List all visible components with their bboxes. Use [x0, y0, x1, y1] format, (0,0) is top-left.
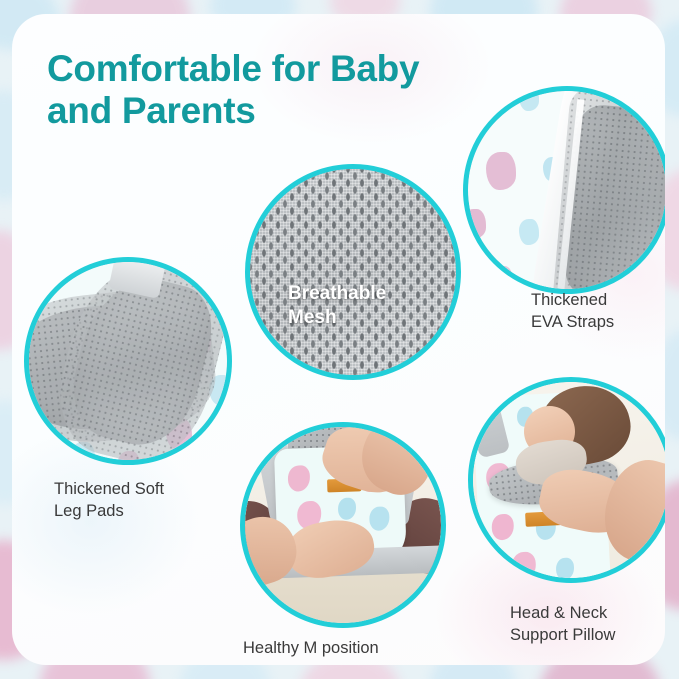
- caption-eva-straps: Thickened EVA Straps: [531, 290, 614, 334]
- leg-pads-photo: [29, 262, 227, 460]
- mesh-texture: [250, 169, 456, 375]
- feature-circle-m-position[interactable]: [240, 422, 446, 628]
- feature-circle-leg-pads[interactable]: [24, 257, 232, 465]
- caption-head-neck-pillow: Head & Neck Support Pillow: [510, 603, 615, 647]
- page-title: Comfortable for Baby and Parents: [47, 48, 419, 132]
- caption-leg-pads: Thickened Soft Leg Pads: [54, 479, 164, 523]
- caption-m-position: Healthy M position: [243, 638, 379, 660]
- breathable-mesh-overlay-label: Breathable Mesh: [288, 282, 386, 331]
- head-neck-photo: [473, 382, 665, 578]
- feature-circle-eva-straps[interactable]: [463, 86, 665, 294]
- eva-straps-photo: [468, 91, 665, 289]
- feature-circle-breathable-mesh[interactable]: Breathable Mesh: [245, 164, 461, 380]
- content-card: Comfortable for Baby and Parents Breatha…: [12, 14, 665, 665]
- mesh-photo: Breathable Mesh: [250, 169, 456, 375]
- m-position-photo: [245, 427, 441, 623]
- feature-circle-head-neck-pillow[interactable]: [468, 377, 665, 583]
